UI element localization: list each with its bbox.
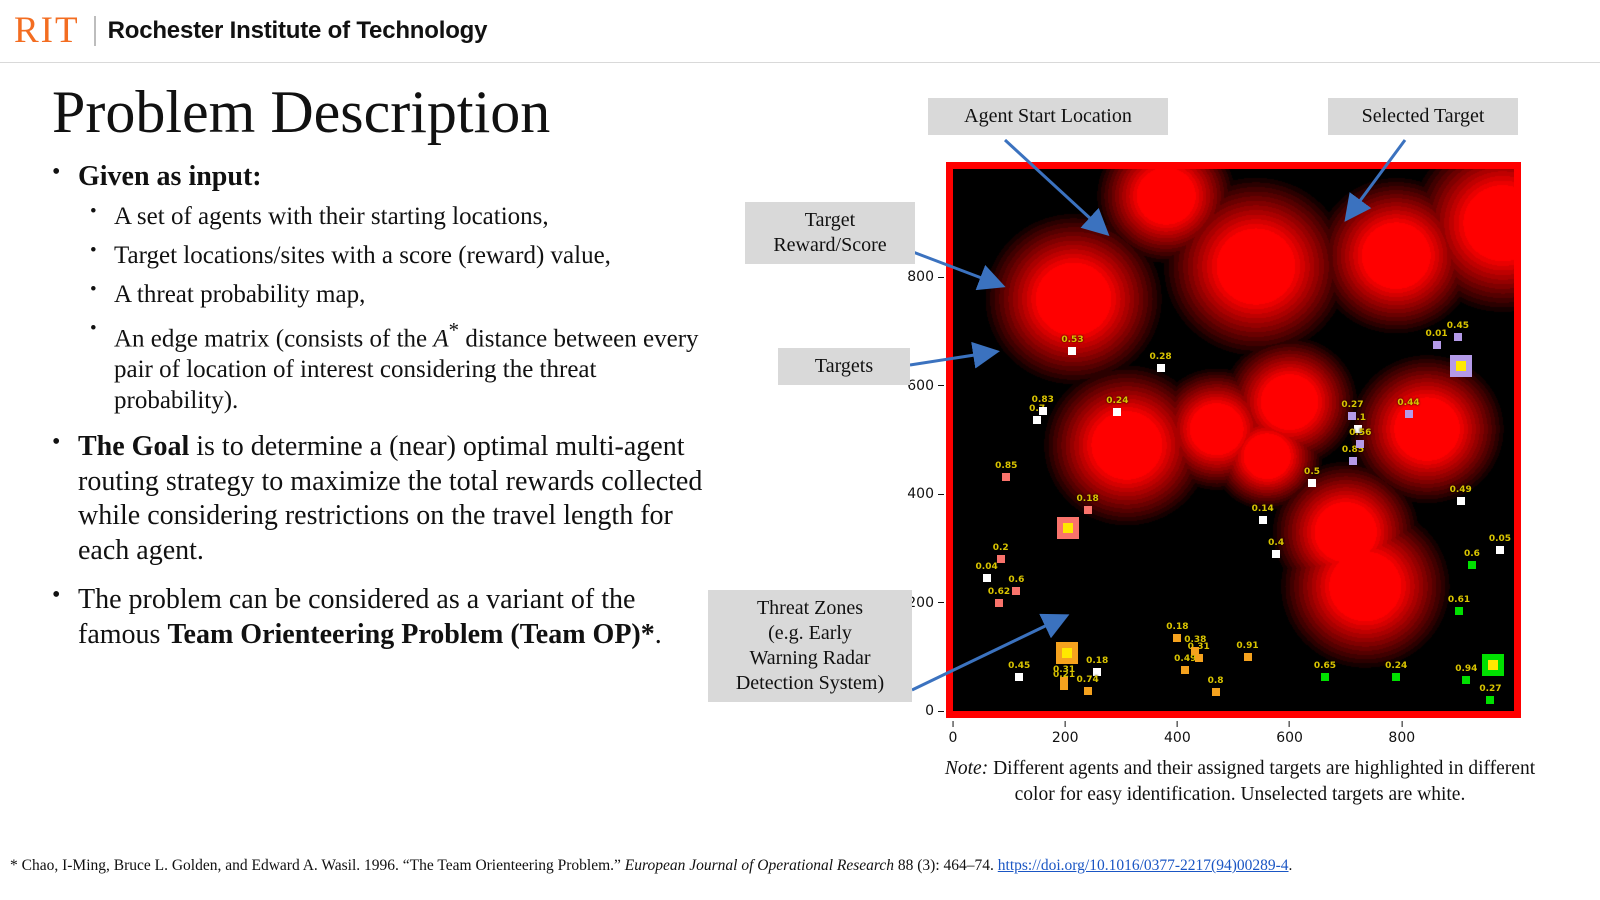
agent-start-marker <box>1056 642 1078 664</box>
sub-bullet-list: A set of agents with their starting loca… <box>78 201 724 416</box>
target-marker <box>997 555 1005 563</box>
footnote-citation: * Chao, I-Ming, Bruce L. Golden, and Edw… <box>10 857 625 874</box>
target-score-label: 0.38 <box>1184 635 1206 645</box>
figure-container: 0.450.180.040.40.140.50.490.10.70.830.24… <box>700 80 1600 860</box>
callout-selected-target: Selected Target <box>1328 98 1518 135</box>
agent-start-marker <box>1450 355 1472 377</box>
target-marker <box>1348 412 1356 420</box>
target-score-label: 0.74 <box>1077 675 1099 685</box>
y-axis-tick: 200 <box>907 595 944 611</box>
sub-bullet-edge-matrix: An edge matrix (consists of the A* dista… <box>78 318 724 416</box>
target-score-label: 0.5 <box>1304 467 1320 477</box>
target-score-label: 0.24 <box>1106 396 1128 406</box>
target-marker <box>1191 647 1199 655</box>
target-score-label: 0.85 <box>995 461 1017 471</box>
target-marker <box>1272 550 1280 558</box>
x-axis: 0200400600800 <box>946 721 1521 747</box>
agent-start-core <box>1062 648 1072 658</box>
target-marker <box>1060 677 1068 685</box>
target-score-label: 0.61 <box>1448 595 1470 605</box>
target-marker <box>1084 687 1092 695</box>
sub-bullet-targets: Target locations/sites with a score (rew… <box>78 240 724 271</box>
target-marker <box>1308 479 1316 487</box>
target-marker <box>1113 408 1121 416</box>
logo-divider <box>94 16 96 46</box>
target-score-label: 0.24 <box>1385 661 1407 671</box>
target-score-label: 0.27 <box>1479 684 1501 694</box>
target-marker <box>1212 688 1220 696</box>
y-axis-tick: 800 <box>907 269 944 285</box>
page-header: RIT Rochester Institute of Technology <box>0 0 1600 62</box>
target-score-label: 0.8 <box>1208 676 1224 686</box>
target-score-label: 0.18 <box>1077 494 1099 504</box>
target-marker <box>1259 516 1267 524</box>
target-marker <box>1468 561 1476 569</box>
target-score-label: 0.05 <box>1489 534 1511 544</box>
target-marker <box>1486 696 1494 704</box>
header-divider <box>0 62 1600 63</box>
callout-targets: Targets <box>778 348 910 385</box>
target-marker <box>1173 634 1181 642</box>
bullet-list: Given as input: A set of agents with the… <box>44 160 724 666</box>
target-marker <box>1433 341 1441 349</box>
target-marker <box>1002 473 1010 481</box>
target-score-label: 0.53 <box>1061 335 1083 345</box>
x-axis-tick: 0 <box>949 721 958 746</box>
x-axis-tick: 800 <box>1388 721 1415 746</box>
target-marker <box>1039 407 1047 415</box>
target-score-label: 0.6 <box>1008 575 1024 585</box>
agent-start-core <box>1063 523 1073 533</box>
target-score-label: 0.49 <box>1174 654 1196 664</box>
agent-start-core <box>1488 660 1498 670</box>
target-score-label: 0.2 <box>993 543 1009 553</box>
target-marker <box>1244 653 1252 661</box>
rit-wordmark: Rochester Institute of Technology <box>108 17 488 45</box>
target-score-label: 0.6 <box>1464 549 1480 559</box>
target-score-label: 0.94 <box>1455 664 1477 674</box>
page-title: Problem Description <box>52 78 550 147</box>
sub-bullet-agents: A set of agents with their starting loca… <box>78 201 724 232</box>
note-body: Different agents and their assigned targ… <box>988 758 1535 805</box>
y-axis-tick: 600 <box>907 378 944 394</box>
x-axis-tick: 400 <box>1164 721 1191 746</box>
plot-frame: 0.450.180.040.40.140.50.490.10.70.830.24… <box>946 162 1521 718</box>
target-score-label: 0.31 <box>1053 665 1075 675</box>
target-score-label: 0.91 <box>1236 641 1258 651</box>
target-marker <box>1455 607 1463 615</box>
sub-bullet-threat-map: A threat probability map, <box>78 279 724 310</box>
x-axis-tick: 600 <box>1276 721 1303 746</box>
target-score-label: 0.28 <box>1149 352 1171 362</box>
target-score-label: 0.4 <box>1268 538 1284 548</box>
agent-start-core <box>1456 361 1466 371</box>
callout-agent-start-location: Agent Start Location <box>928 98 1168 135</box>
target-marker <box>1392 673 1400 681</box>
bullet-the-goal: The Goal is to determine a (near) optima… <box>44 430 724 569</box>
target-marker <box>1496 546 1504 554</box>
target-marker <box>1454 333 1462 341</box>
goal-emphasis: The Goal <box>78 431 189 462</box>
target-score-label: 0.45 <box>1008 661 1030 671</box>
target-marker <box>1462 676 1470 684</box>
threat-probability-heatmap <box>953 169 1514 711</box>
target-marker <box>1181 666 1189 674</box>
target-marker <box>1356 440 1364 448</box>
target-marker <box>1457 497 1465 505</box>
target-marker <box>1033 416 1041 424</box>
target-score-label: 0.65 <box>1314 661 1336 671</box>
target-score-label: 0.01 <box>1425 329 1447 339</box>
target-score-label: 0.27 <box>1341 400 1363 410</box>
bullet-given-label: Given as input: <box>78 161 262 192</box>
callout-threat-zones: Threat Zones (e.g. Early Warning Radar D… <box>708 590 912 702</box>
rit-logo: RIT Rochester Institute of Technology <box>14 12 487 49</box>
team-op-emphasis: Team Orienteering Problem (Team OP)* <box>167 619 654 650</box>
x-axis-tick: 200 <box>1052 721 1079 746</box>
plot-area: 0.450.180.040.40.140.50.490.10.70.830.24… <box>953 169 1514 711</box>
target-score-label: 0.45 <box>1447 321 1469 331</box>
target-marker <box>1084 506 1092 514</box>
bullet-given-as-input: Given as input: A set of agents with the… <box>44 160 724 416</box>
target-marker <box>1012 587 1020 595</box>
target-marker <box>1321 673 1329 681</box>
target-score-label: 0.83 <box>1032 395 1054 405</box>
target-score-label: 0.44 <box>1397 398 1419 408</box>
target-marker <box>995 599 1003 607</box>
y-axis-tick: 0 <box>925 703 944 719</box>
target-marker <box>1157 364 1165 372</box>
target-marker <box>1068 347 1076 355</box>
agent-start-marker <box>1482 654 1504 676</box>
target-marker <box>1405 410 1413 418</box>
rit-logo-mark: RIT <box>14 12 80 49</box>
bullet-team-op: The problem can be considered as a varia… <box>44 583 724 652</box>
target-score-label: 0.62 <box>988 587 1010 597</box>
note-label: Note: <box>945 758 988 779</box>
target-score-label: 0.14 <box>1252 504 1274 514</box>
target-score-label: 0.49 <box>1450 485 1472 495</box>
y-axis-tick: 400 <box>907 486 944 502</box>
callout-target-reward-score: Target Reward/Score <box>745 202 915 264</box>
target-marker <box>1015 673 1023 681</box>
target-marker <box>983 574 991 582</box>
target-score-label: 0.18 <box>1086 656 1108 666</box>
figure-note: Note: Different agents and their assigne… <box>930 756 1550 807</box>
target-marker <box>1349 457 1357 465</box>
agent-start-marker <box>1057 517 1079 539</box>
target-score-label: 0.18 <box>1166 622 1188 632</box>
target-score-label: 0.04 <box>976 562 998 572</box>
target-score-label: 0.56 <box>1349 428 1371 438</box>
